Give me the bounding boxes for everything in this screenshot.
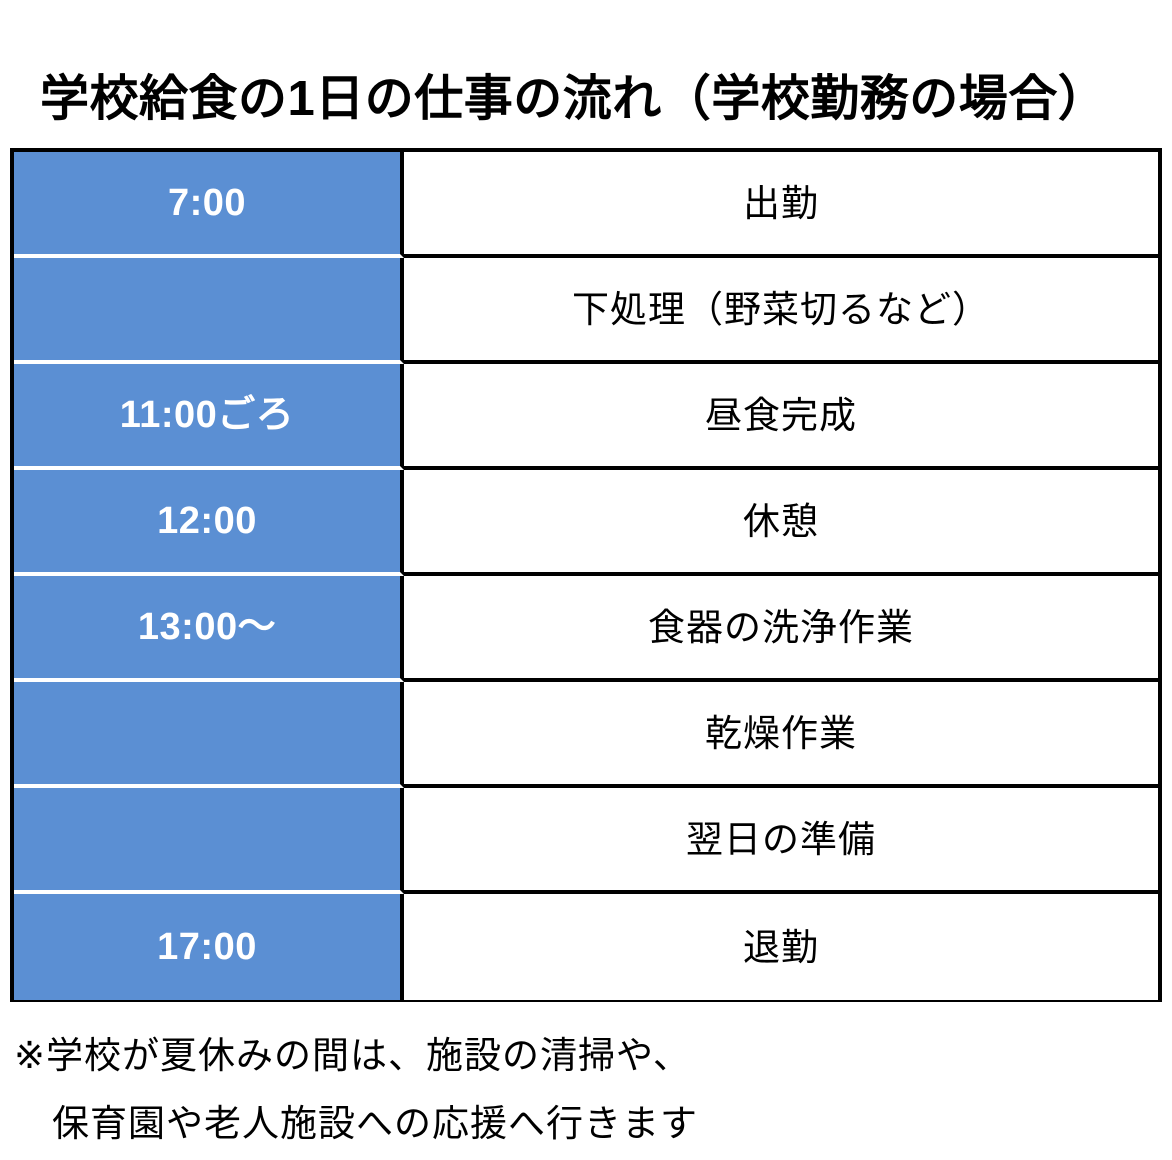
task-cell: 休憩 bbox=[404, 470, 1158, 576]
footer-note-line-1: ※学校が夏休みの間は、施設の清掃や、 bbox=[14, 1022, 1154, 1090]
page-title: 学校給食の1日の仕事の流れ（学校勤務の場合） bbox=[40, 59, 1140, 131]
footer-note: ※学校が夏休みの間は、施設の清掃や、 保育園や老人施設への応援へ行きます bbox=[14, 1022, 1154, 1158]
time-cell: 11:00ごろ bbox=[14, 364, 404, 470]
table-row: 17:00 退勤 bbox=[14, 894, 1158, 1000]
task-cell: 乾燥作業 bbox=[404, 682, 1158, 788]
task-cell: 下処理（野菜切るなど） bbox=[404, 258, 1158, 364]
task-cell: 退勤 bbox=[404, 894, 1158, 1000]
time-cell: 17:00 bbox=[14, 894, 404, 1000]
task-cell: 昼食完成 bbox=[404, 364, 1158, 470]
time-cell bbox=[14, 788, 404, 894]
time-cell bbox=[14, 682, 404, 788]
time-cell: 13:00～ bbox=[14, 576, 404, 682]
table-row: 11:00ごろ 昼食完成 bbox=[14, 364, 1158, 470]
table-row: 12:00 休憩 bbox=[14, 470, 1158, 576]
table-row: 7:00 出勤 bbox=[14, 152, 1158, 258]
table-row: 13:00～ 食器の洗浄作業 bbox=[14, 576, 1158, 682]
time-cell: 7:00 bbox=[14, 152, 404, 258]
time-cell: 12:00 bbox=[14, 470, 404, 576]
table-row: 下処理（野菜切るなど） bbox=[14, 258, 1158, 364]
footer-note-line-2: 保育園や老人施設への応援へ行きます bbox=[14, 1090, 1154, 1158]
task-cell: 翌日の準備 bbox=[404, 788, 1158, 894]
table-row: 翌日の準備 bbox=[14, 788, 1158, 894]
daily-schedule-table: 7:00 出勤 下処理（野菜切るなど） 11:00ごろ 昼食完成 12:00 休… bbox=[10, 148, 1162, 1002]
table-row: 乾燥作業 bbox=[14, 682, 1158, 788]
time-cell bbox=[14, 258, 404, 364]
task-cell: 出勤 bbox=[404, 152, 1158, 258]
task-cell: 食器の洗浄作業 bbox=[404, 576, 1158, 682]
schedule-page: 学校給食の1日の仕事の流れ（学校勤務の場合） 7:00 出勤 下処理（野菜切るな… bbox=[0, 0, 1172, 1160]
